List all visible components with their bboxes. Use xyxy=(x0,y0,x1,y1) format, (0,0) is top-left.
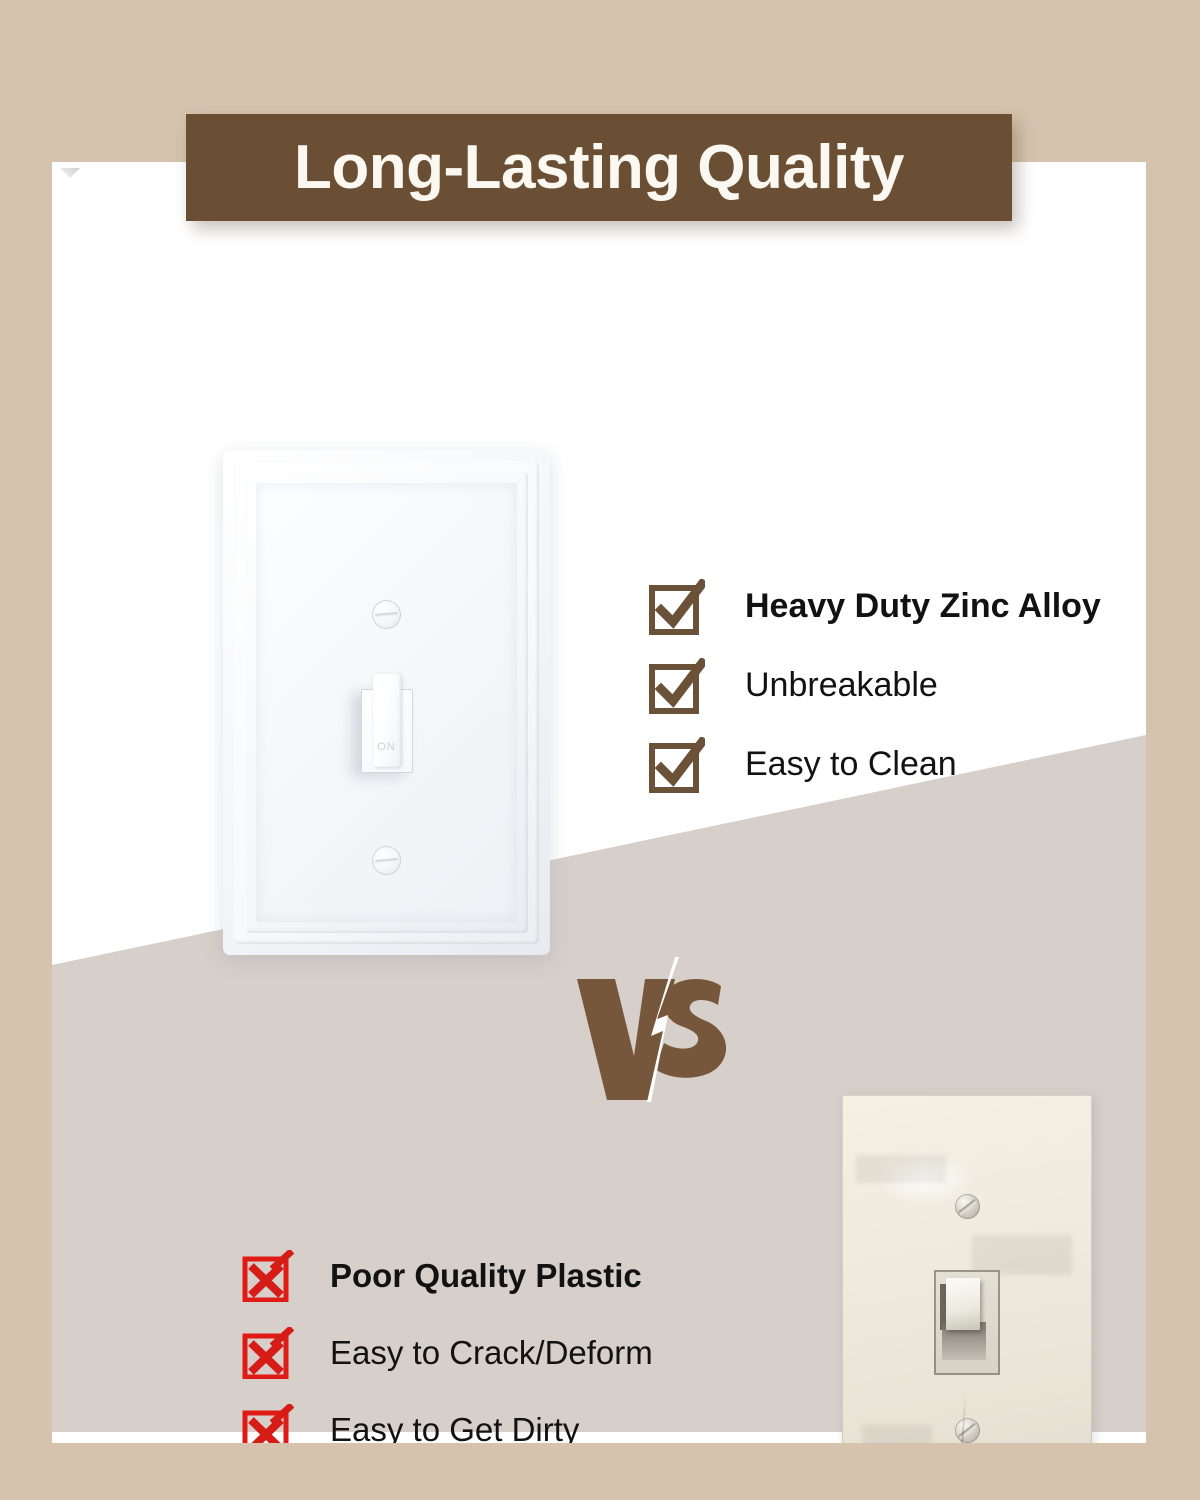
screw-slot xyxy=(375,858,398,863)
toggle-lever: ON xyxy=(373,673,401,767)
page-title: Long-Lasting Quality xyxy=(294,137,904,199)
screw-slot xyxy=(375,612,398,617)
toggle-on-label: ON xyxy=(373,741,401,753)
list-item-label: Heavy Duty Zinc Alloy xyxy=(745,587,1101,626)
checkbox-checked-icon xyxy=(649,737,705,793)
old-screw-top-icon xyxy=(955,1194,980,1219)
list-item: Poor Quality Plastic xyxy=(242,1237,653,1314)
negative-feature-list: Poor Quality Plastic Easy to Crack/Defor… xyxy=(242,1237,653,1443)
screw-slot xyxy=(957,1198,976,1214)
title-banner: Long-Lasting Quality xyxy=(186,114,1012,221)
old-toggle-lever xyxy=(946,1278,980,1330)
checkbox-crossed-icon xyxy=(242,1327,294,1379)
premium-wall-plate-image: ON xyxy=(223,450,550,955)
toggle-switch: ON xyxy=(361,673,413,773)
positive-feature-list: Heavy Duty Zinc Alloy Unbreakable Easy t… xyxy=(649,567,1101,804)
grime-smudge xyxy=(972,1235,1072,1275)
list-item: Easy to Clean xyxy=(649,725,1101,804)
list-item: Unbreakable xyxy=(649,646,1101,725)
grime-smudge xyxy=(862,1425,932,1443)
list-item-label: Easy to Crack/Deform xyxy=(330,1334,653,1372)
checkbox-crossed-icon xyxy=(242,1404,294,1444)
plate-screw-top-icon xyxy=(372,600,401,629)
checkbox-checked-icon xyxy=(649,658,705,714)
list-item-label: Poor Quality Plastic xyxy=(330,1257,642,1295)
plate-face: ON xyxy=(256,483,517,922)
checkbox-checked-icon xyxy=(649,579,705,635)
screw-slot xyxy=(957,1422,976,1438)
grime-smudge xyxy=(856,1155,946,1183)
checkbox-crossed-icon xyxy=(242,1250,294,1302)
list-item: Easy to Crack/Deform xyxy=(242,1314,653,1391)
old-toggle-switch xyxy=(934,1270,1000,1375)
list-item-label: Easy to Get Dirty xyxy=(330,1411,579,1444)
content-card: ON Heavy Duty Zinc Alloy xyxy=(52,162,1146,1443)
versus-divider-icon xyxy=(571,957,741,1102)
old-screw-bottom-icon xyxy=(955,1418,980,1443)
list-item: Easy to Get Dirty xyxy=(242,1391,653,1443)
page-fold-corner xyxy=(58,168,80,190)
list-item-label: Easy to Clean xyxy=(745,745,957,784)
old-plastic-wall-plate-image xyxy=(842,1095,1092,1443)
list-item: Heavy Duty Zinc Alloy xyxy=(649,567,1101,646)
list-item-label: Unbreakable xyxy=(745,666,938,705)
plate-screw-bottom-icon xyxy=(372,846,401,875)
